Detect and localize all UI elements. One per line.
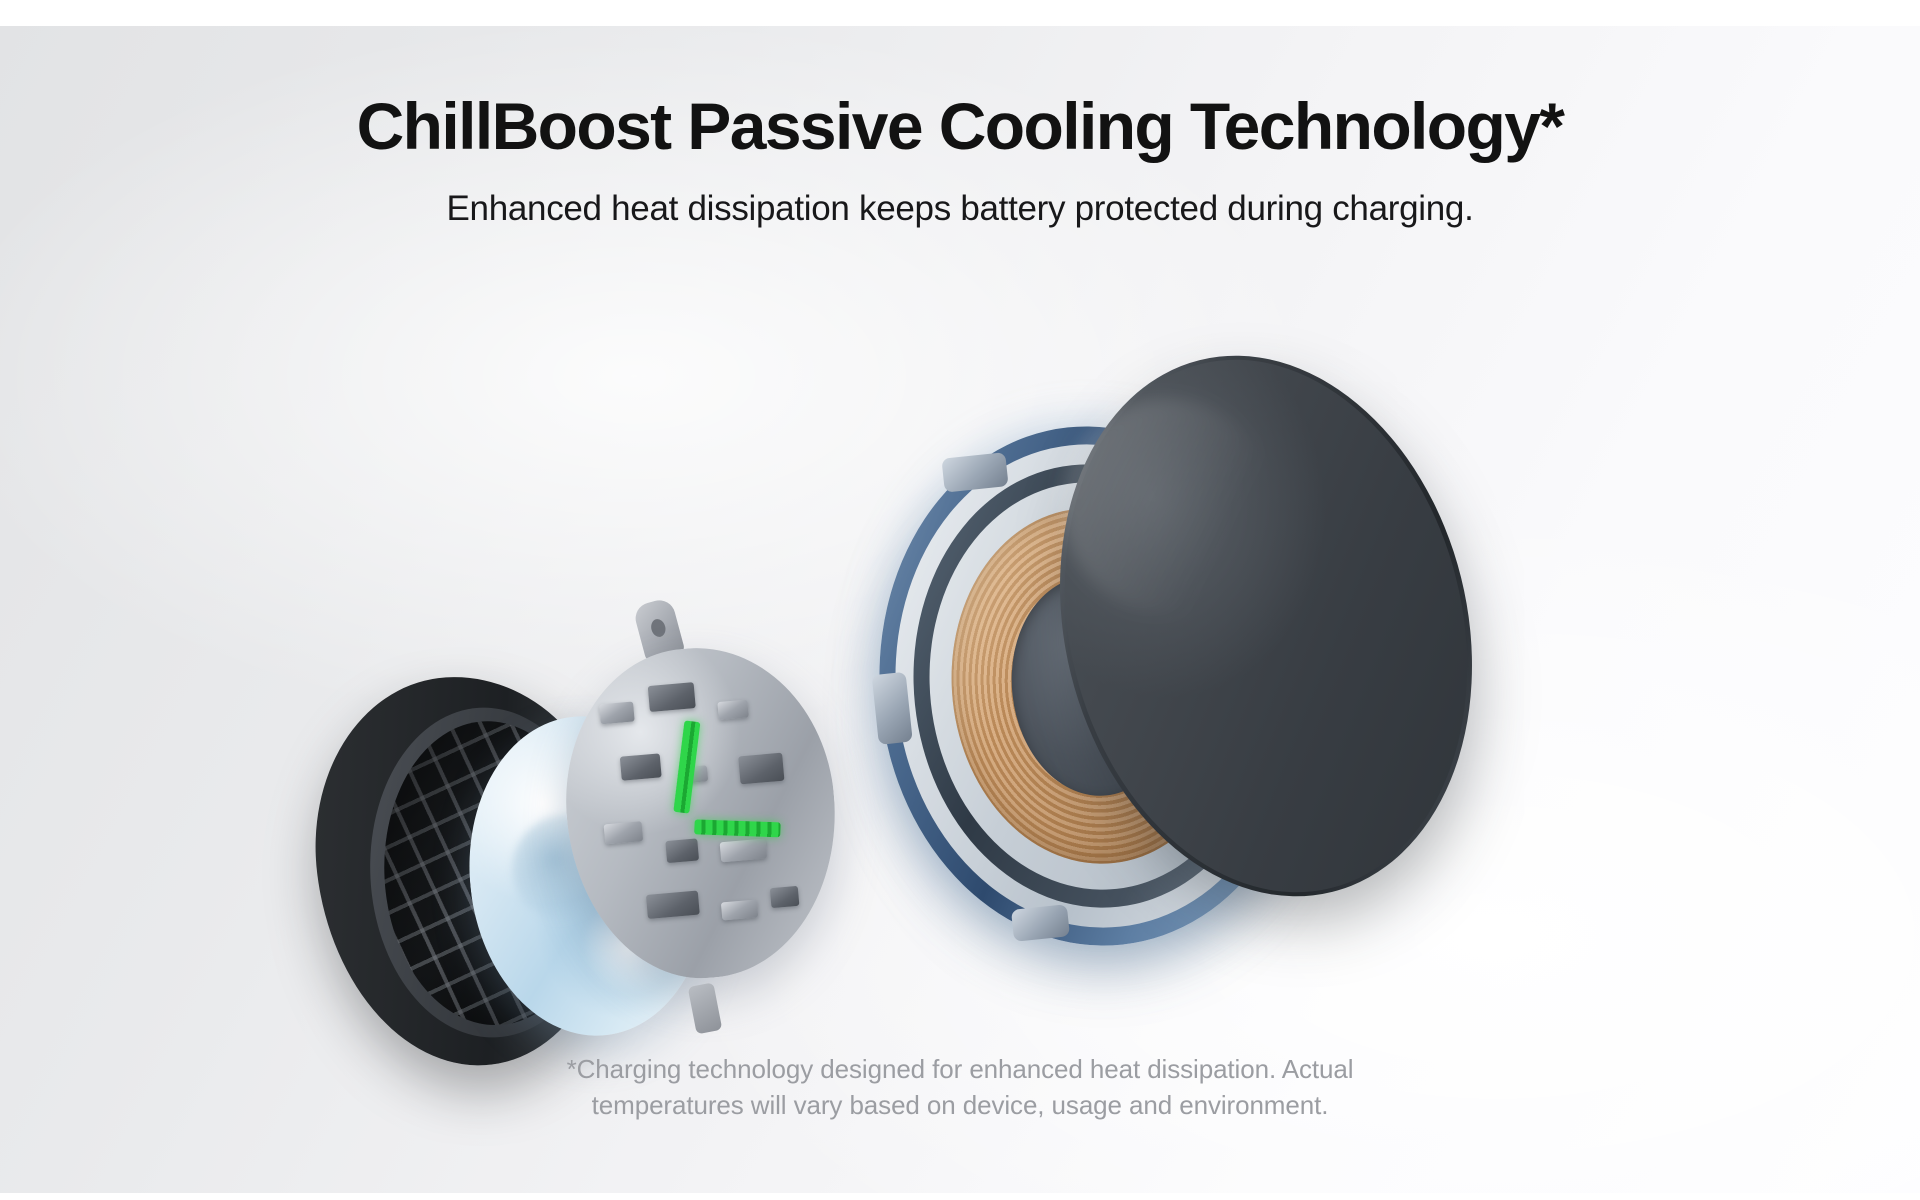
page-title: ChillBoost Passive Cooling Technology* [0, 92, 1920, 162]
footnote-line-2: temperatures will vary based on device, … [0, 1088, 1920, 1124]
product-feature-banner: ChillBoost Passive Cooling Technology* E… [0, 0, 1920, 1200]
headline-block: ChillBoost Passive Cooling Technology* E… [0, 92, 1920, 230]
page-subtitle: Enhanced heat dissipation keeps battery … [0, 162, 1920, 230]
footnote-disclaimer: *Charging technology designed for enhanc… [0, 1052, 1920, 1124]
footnote-line-1: *Charging technology designed for enhanc… [0, 1052, 1920, 1088]
